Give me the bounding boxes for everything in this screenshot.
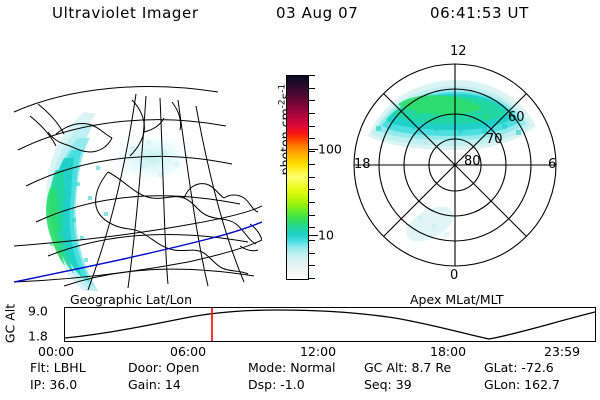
mlat-ring-label-60: 60 — [508, 110, 525, 125]
colorbar-minor-tick — [309, 177, 315, 178]
geographic-panel-title: Geographic Lat/Lon — [70, 292, 192, 307]
colorbar-minor-tick — [309, 100, 315, 101]
time-tick-1: 06:00 — [170, 344, 206, 359]
colorbar-minor-tick — [309, 88, 315, 89]
colorbar-gradient-fill — [287, 76, 308, 279]
mlat-ring-label-80: 80 — [464, 154, 481, 169]
colorbar-panel[interactable]: photon cm-2s-1 10010 — [262, 60, 354, 292]
colorbar-minor-tick — [309, 164, 315, 165]
status-field-seq: Seq: 39 — [364, 377, 412, 392]
status-field-gc-alt: GC Alt: 8.7 Re — [364, 360, 451, 375]
colorbar-major-tick-100 — [309, 149, 318, 150]
mlt-label-18: 18 — [354, 157, 371, 172]
colorbar-minor-tick — [309, 240, 315, 241]
time-tick-4: 23:59 — [544, 344, 580, 359]
gc-alt-axis-label: GC Alt — [3, 302, 18, 346]
observation-time: 06:41:53 UT — [430, 4, 529, 22]
colorbar-minor-tick — [309, 253, 315, 254]
status-row: Flt: LBHLDoor: OpenMode: NormalGC Alt: 8… — [0, 360, 600, 377]
mlt-label-6: 6 — [548, 157, 556, 172]
colorbar-minor-tick — [309, 138, 315, 139]
colorbar-tick-label-10: 10 — [318, 227, 334, 242]
colorbar-tick-label-100: 100 — [318, 142, 342, 157]
colorbar-minor-tick — [309, 202, 315, 203]
geographic-map-content — [12, 46, 262, 291]
colorbar-minor-tick — [309, 265, 315, 266]
time-tick-3: 18:00 — [430, 344, 466, 359]
status-field-door: Door: Open — [128, 360, 199, 375]
colorbar-minor-tick — [309, 151, 315, 152]
gc-alt-tick-max: 9.0 — [28, 304, 48, 319]
status-field-flt: Flt: LBHL — [30, 360, 86, 375]
colorbar-major-tick-10 — [309, 235, 318, 236]
orbit-track-svg — [65, 308, 595, 341]
geographic-map-svg — [12, 46, 262, 291]
colorbar-minor-tick — [309, 215, 315, 216]
page-title: Ultraviolet Imager — [52, 4, 199, 22]
colorbar-minor-tick — [309, 113, 315, 114]
geographic-map-panel[interactable] — [12, 46, 262, 291]
mlt-label-0: 0 — [450, 268, 458, 283]
mlt-dial-grid — [354, 64, 556, 266]
orbit-altitude-panel[interactable]: Geographic Lat/Lon Apex MLat/MLT GC Alt … — [0, 292, 600, 354]
status-field-glon: GLon: 162.7 — [484, 377, 560, 392]
colorbar-minor-tick — [309, 227, 315, 228]
header-bar: Ultraviolet Imager 03 Aug 07 06:41:53 UT — [0, 4, 600, 30]
status-field-glat: GLat: -72.6 — [484, 360, 554, 375]
mlt-label-12: 12 — [450, 44, 467, 59]
status-field-mode: Mode: Normal — [248, 360, 335, 375]
time-tick-2: 12:00 — [300, 344, 336, 359]
status-row: IP: 36.0Gain: 14Dsp: -1.0Seq: 39GLon: 16… — [0, 377, 600, 394]
colorbar-minor-tick — [309, 278, 315, 279]
gc-alt-tick-min: 1.8 — [28, 329, 48, 344]
observation-date: 03 Aug 07 — [276, 4, 358, 22]
colorbar-minor-tick — [309, 189, 315, 190]
mlat-ring-label-70: 70 — [486, 132, 503, 147]
status-block: Flt: LBHLDoor: OpenMode: NormalGC Alt: 8… — [0, 360, 600, 398]
colorbar-minor-tick — [309, 75, 315, 76]
status-field-ip: IP: 36.0 — [30, 377, 77, 392]
status-field-dsp: Dsp: -1.0 — [248, 377, 305, 392]
orbit-altitude-curve — [65, 310, 595, 339]
colorbar-gradient[interactable] — [286, 75, 309, 280]
colorbar-minor-tick — [309, 126, 315, 127]
status-field-gain: Gain: 14 — [128, 377, 181, 392]
mlt-dial-svg — [352, 44, 562, 292]
orbit-track-box[interactable] — [64, 307, 596, 342]
apex-panel-title: Apex MLat/MLT — [410, 292, 504, 307]
time-tick-0: 00:00 — [38, 344, 74, 359]
apex-mlt-dial-panel[interactable]: 12 6 0 18 60 70 80 — [352, 44, 562, 292]
